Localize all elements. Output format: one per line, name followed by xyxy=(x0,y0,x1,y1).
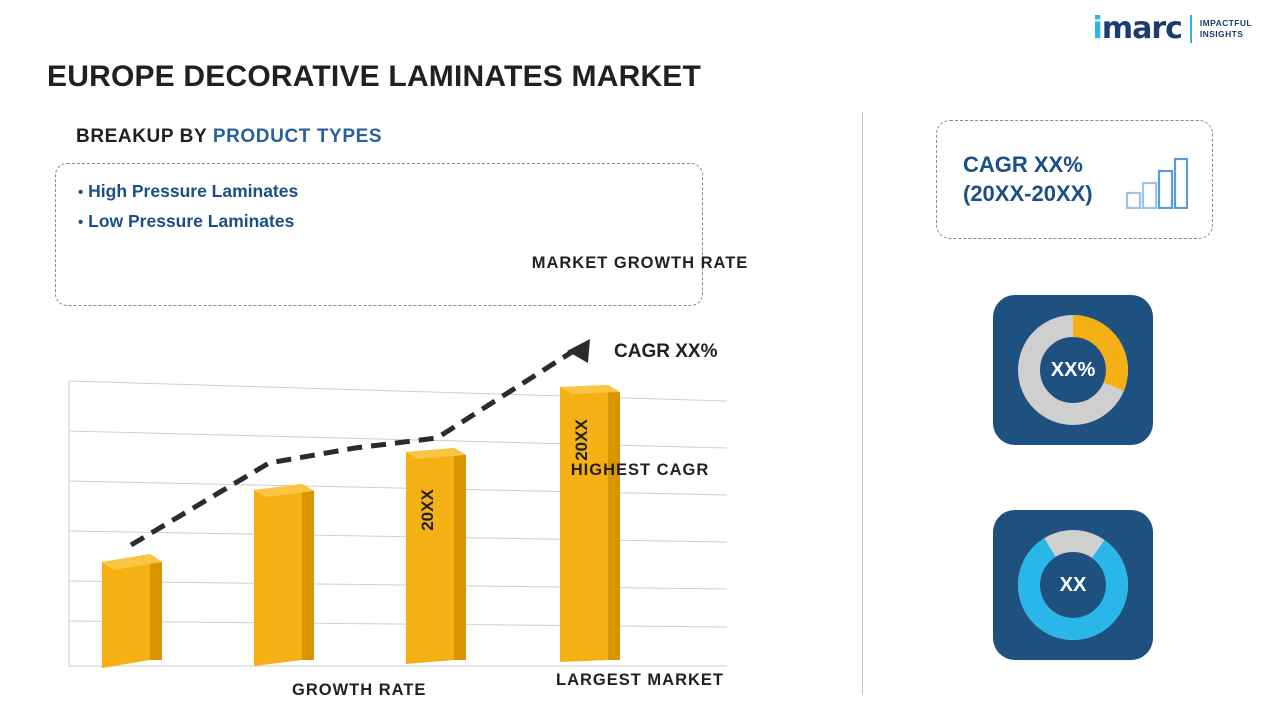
highest-cagr-value: XX% xyxy=(1051,359,1095,382)
bar-4-label: 20XX xyxy=(572,419,591,461)
bar-2 xyxy=(254,484,314,666)
bar-chart-icon xyxy=(1126,157,1188,214)
market-growth-rate-label: MARKET GROWTH RATE xyxy=(0,254,1280,273)
panel-divider xyxy=(862,112,863,695)
chart-gridlines xyxy=(69,381,727,666)
logo-divider xyxy=(1190,15,1192,43)
bar-4: 20XX xyxy=(560,385,620,662)
growth-rate-chart: 20XX 20XX xyxy=(55,330,745,680)
bar-1 xyxy=(102,554,162,668)
breakup-heading: BREAKUP BY PRODUCT TYPES xyxy=(76,126,382,148)
cagr-text: CAGR XX% (20XX-20XX) xyxy=(963,151,1093,208)
logo-tagline-line1: IMPACTFUL xyxy=(1200,18,1252,29)
list-item: • Low Pressure Laminates xyxy=(78,206,680,236)
largest-market-label: LARGEST MARKET xyxy=(0,671,1280,690)
bar-3-label: 20XX xyxy=(418,489,437,531)
logo-wordmark: imarc xyxy=(1093,14,1182,44)
cagr-arrow-label: CAGR XX% xyxy=(614,341,717,363)
breakup-highlight: PRODUCT TYPES xyxy=(213,126,382,147)
highest-cagr-label: HIGHEST CAGR xyxy=(0,461,1280,480)
logo-tagline-line2: INSIGHTS xyxy=(1200,29,1252,40)
list-item-label: Low Pressure Laminates xyxy=(88,211,294,231)
list-item-label: High Pressure Laminates xyxy=(88,181,298,201)
imarc-logo: imarc IMPACTFUL INSIGHTS xyxy=(1093,14,1252,44)
breakup-prefix: BREAKUP BY xyxy=(76,126,213,147)
cagr-line-2: (20XX-20XX) xyxy=(963,180,1093,209)
slide-root: imarc IMPACTFUL INSIGHTS EUROPE DECORATI… xyxy=(0,0,1280,720)
list-item: • High Pressure Laminates xyxy=(78,176,680,206)
largest-market-value: XX xyxy=(1060,574,1087,597)
chart-svg: 20XX 20XX xyxy=(55,330,745,680)
highest-cagr-tile: XX% xyxy=(993,295,1153,445)
bar-3: 20XX xyxy=(406,448,466,664)
bullet-icon: • xyxy=(78,184,83,201)
cagr-line-1: CAGR XX% xyxy=(963,151,1093,180)
largest-market-tile: XX xyxy=(993,510,1153,660)
page-title: EUROPE DECORATIVE LAMINATES MARKET xyxy=(47,60,701,94)
cagr-box: CAGR XX% (20XX-20XX) xyxy=(936,120,1213,239)
bullet-icon: • xyxy=(78,214,83,231)
product-types-box: • High Pressure Laminates • Low Pressure… xyxy=(55,163,703,306)
trend-arrow xyxy=(131,339,590,545)
logo-tagline: IMPACTFUL INSIGHTS xyxy=(1200,18,1252,41)
